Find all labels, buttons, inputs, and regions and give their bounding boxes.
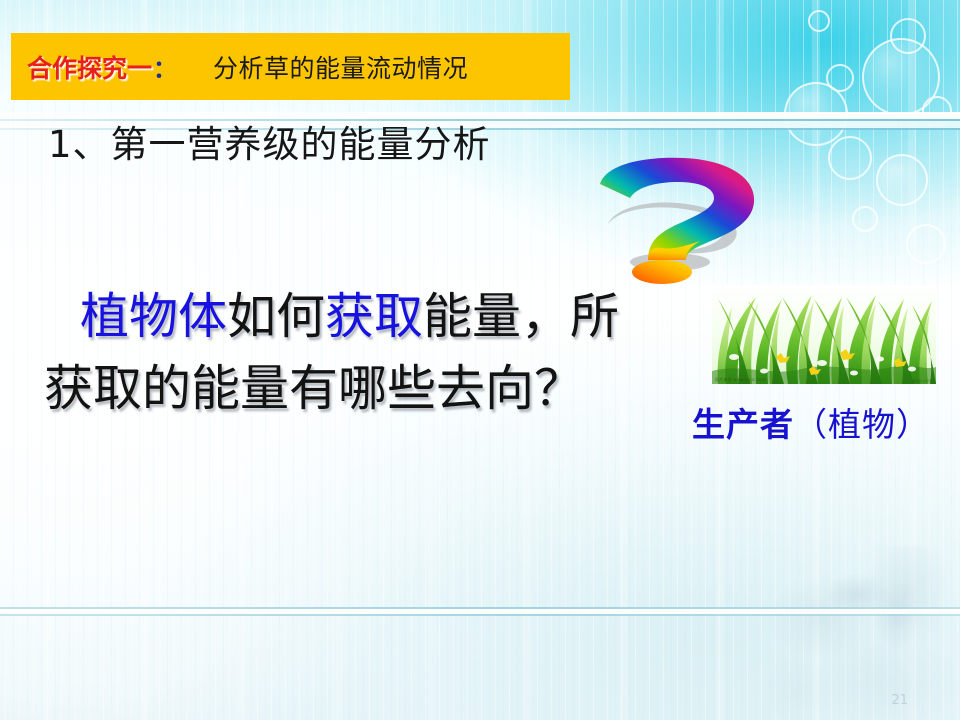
bottom-divider-line-2 (0, 614, 960, 616)
question-plain-2: 能量，所 (423, 288, 619, 345)
bottom-divider (0, 604, 960, 620)
bubble-icon (890, 18, 926, 54)
question-line-2: 获取的能量有哪些去向？ (44, 353, 684, 425)
corner-watermark-2 (810, 540, 930, 660)
grass-caption: 生产者（植物） (692, 398, 930, 446)
grass-image: 图片来源 www.nipic.com nipic.com (712, 285, 936, 384)
rainbow-question-mark-icon (586, 156, 776, 286)
grass-credit-right: nipic.com (913, 378, 932, 383)
question-text-block: 植物体如何获取能量，所 获取的能量有哪些去向？ (44, 281, 684, 425)
bubble-icon (828, 136, 872, 180)
page-number: 21 (891, 693, 908, 708)
banner-colon: ： (153, 49, 177, 84)
banner-subtitle: 分析草的能量流动情况 (213, 49, 468, 85)
question-highlight-obtain: 获取 (325, 288, 423, 345)
bubble-icon (808, 10, 830, 32)
grass-caption-paren: （植物） (794, 405, 930, 444)
banner-label: 合作探究一 (27, 49, 152, 85)
question-plain-1: 如何 (227, 288, 325, 345)
grass-credit-left: 图片来源 www.nipic.com (715, 377, 766, 383)
grass-caption-bold: 生产者 (692, 405, 794, 444)
question-highlight-plant: 植物体 (80, 288, 227, 345)
question-line-1: 植物体如何获取能量，所 (44, 281, 684, 353)
page-subtitle: 1、第一营养级的能量分析 (48, 114, 491, 168)
slide-canvas: 合作探究一 ： 分析草的能量流动情况 1、第一营养级的能量分析 (0, 0, 960, 720)
bubble-icon (852, 206, 878, 232)
bubble-icon (876, 154, 928, 206)
section-banner: 合作探究一 ： 分析草的能量流动情况 (11, 33, 570, 100)
bubble-icon (906, 224, 946, 264)
